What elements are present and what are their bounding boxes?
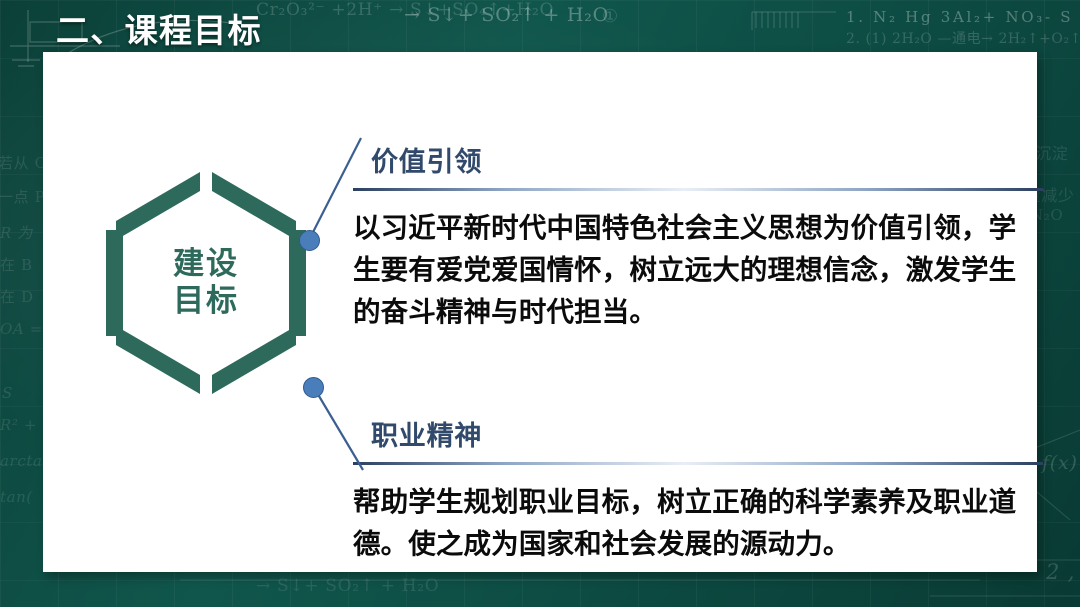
slide-canvas: → S↓+ SO₂↑ + H₂O ① Cr₂O₃²⁻ +2H⁺ → S↓+SO₄… (0, 0, 1080, 607)
chalk-mark: 在 B (0, 254, 33, 275)
section-heading: 价值引领 (371, 140, 1043, 179)
chalk-mark: R 为 (0, 222, 33, 243)
section-professional-spirit: 职业精神 帮助学生规划职业目标，树立正确的科学素养及职业道德。使之成为国家和社会… (353, 414, 1043, 565)
section-divider (353, 462, 1043, 465)
section-divider (353, 188, 1043, 191)
chalk-mark: f(x) = (1042, 452, 1080, 474)
hexagon-label-line1: 建设 (173, 246, 239, 283)
chalk-mark: 在 D (0, 286, 34, 307)
section-value-guidance: 价值引领 以习近平新时代中国特色社会主义思想为价值引领，学生要有爱党爱国情怀，树… (353, 140, 1043, 332)
chalk-mark: 一点 P (0, 186, 45, 207)
chalk-mark: OA = (0, 320, 43, 338)
chalk-mark: 2 , (1046, 560, 1075, 584)
chalk-mark: → S↓+ SO₂↑ + H₂O (404, 4, 609, 26)
connector-dot-bottom (303, 377, 324, 398)
chalk-mark: tan( (0, 488, 33, 506)
page-title: 二、课程目标 (56, 4, 262, 52)
section-heading: 职业精神 (371, 414, 1043, 453)
section-body: 帮助学生规划职业目标，树立正确的科学素养及职业道德。使之成为国家和社会发展的源动… (353, 481, 1039, 565)
chalk-mark: ① (602, 6, 619, 27)
connector-dot-top (299, 230, 320, 251)
hexagon-label-line2: 目标 (173, 283, 239, 320)
section-body: 以习近平新时代中国特色社会主义思想为价值引领，学生要有爱党爱国情怀，树立远大的理… (353, 207, 1039, 332)
chalk-mark: 2. (1) 2H₂O —通电→ 2H₂↑+O₂↑ (846, 28, 1080, 48)
chalk-mark: S (2, 384, 13, 402)
chalk-mark: 若从 C (0, 152, 47, 173)
chalk-mark: R² + (0, 416, 37, 434)
content-card: 建设 目标 价值引领 以习近平新时代中国特色社会主义思想为价值引领，学生要有爱党… (43, 52, 1037, 572)
chalk-mark: → S↓+ SO₂↑ + H₂O (256, 576, 439, 596)
chalk-mark: Cr₂O₃²⁻ +2H⁺ → S↓+SO₄↑+H₂O (256, 0, 554, 20)
chalk-mark: 1. N₂ Hg 3Al₂+ NO₃- S (846, 8, 1073, 26)
